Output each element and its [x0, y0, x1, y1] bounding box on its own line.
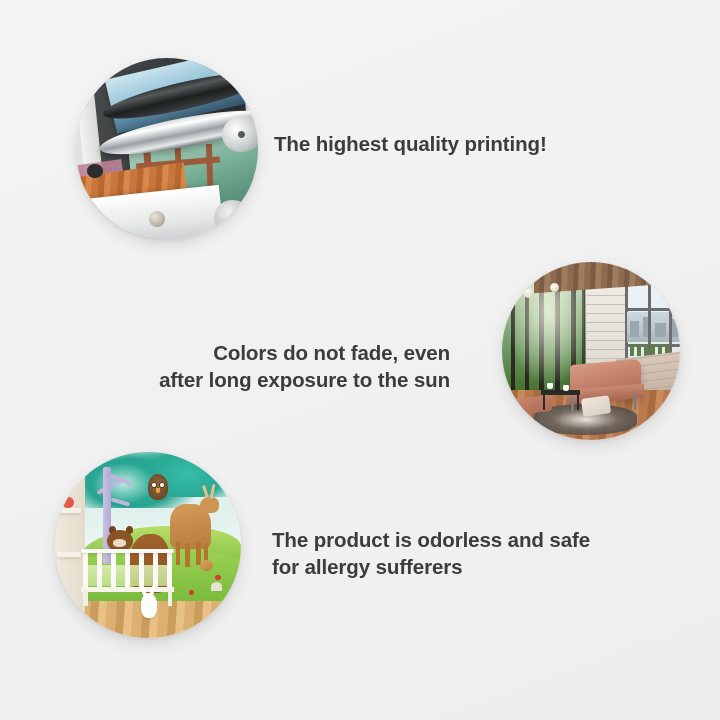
nursery-illustration	[55, 452, 241, 638]
window-mullion-horizontal	[625, 308, 680, 311]
feature-caption-odorless-safe: The product is odorless and safe for all…	[272, 527, 590, 582]
feature-caption-printing-quality: The highest quality printing!	[274, 131, 547, 158]
mural-rabbit	[141, 593, 158, 617]
mural-deer-leg	[185, 543, 189, 567]
coffee-table-top	[541, 390, 580, 395]
crib-leg	[168, 589, 173, 606]
crib-top-rail	[81, 549, 174, 553]
press-drive-wheel	[214, 200, 250, 236]
coffee-table-leg	[543, 394, 545, 410]
mural-owl-eye	[159, 482, 165, 488]
feature-image-nursery-mural	[55, 452, 241, 638]
crib-bars	[83, 553, 172, 588]
mural-mushroom	[211, 582, 222, 591]
mural-owl-eye	[151, 482, 157, 488]
feature-image-loft-interior	[502, 262, 680, 440]
feature-caption-colorfast: Colors do not fade, even after long expo…	[100, 340, 450, 395]
city-building	[655, 323, 666, 337]
pendant-lamp	[523, 287, 534, 298]
mural-owl-beak	[156, 488, 160, 492]
sofa-leg	[634, 394, 637, 410]
loft-interior-illustration	[502, 262, 680, 440]
sofa-leg	[571, 397, 574, 413]
crib-leg	[83, 589, 88, 606]
coffee-cup	[547, 383, 553, 389]
coffee-cup	[563, 385, 569, 391]
crib-bottom-rail	[81, 587, 174, 592]
printing-press-illustration	[76, 58, 258, 240]
mural-deer-leg	[176, 541, 180, 565]
city-building	[630, 321, 639, 337]
feature-image-printing-quality	[76, 58, 258, 240]
mural-berry	[215, 575, 221, 581]
mural-bear-snout	[113, 539, 126, 546]
nursery-shelf	[57, 552, 81, 557]
mural-acorn	[200, 560, 213, 571]
mural-deer-head	[200, 497, 219, 514]
nursery-toy	[62, 497, 73, 508]
baby-crib	[81, 549, 174, 605]
press-drive-wheel-bolt	[236, 213, 241, 218]
coffee-table-leg	[577, 394, 579, 410]
promo-graphic: The highest quality printing! Colors do …	[0, 0, 720, 720]
nursery-shelf	[57, 508, 81, 513]
